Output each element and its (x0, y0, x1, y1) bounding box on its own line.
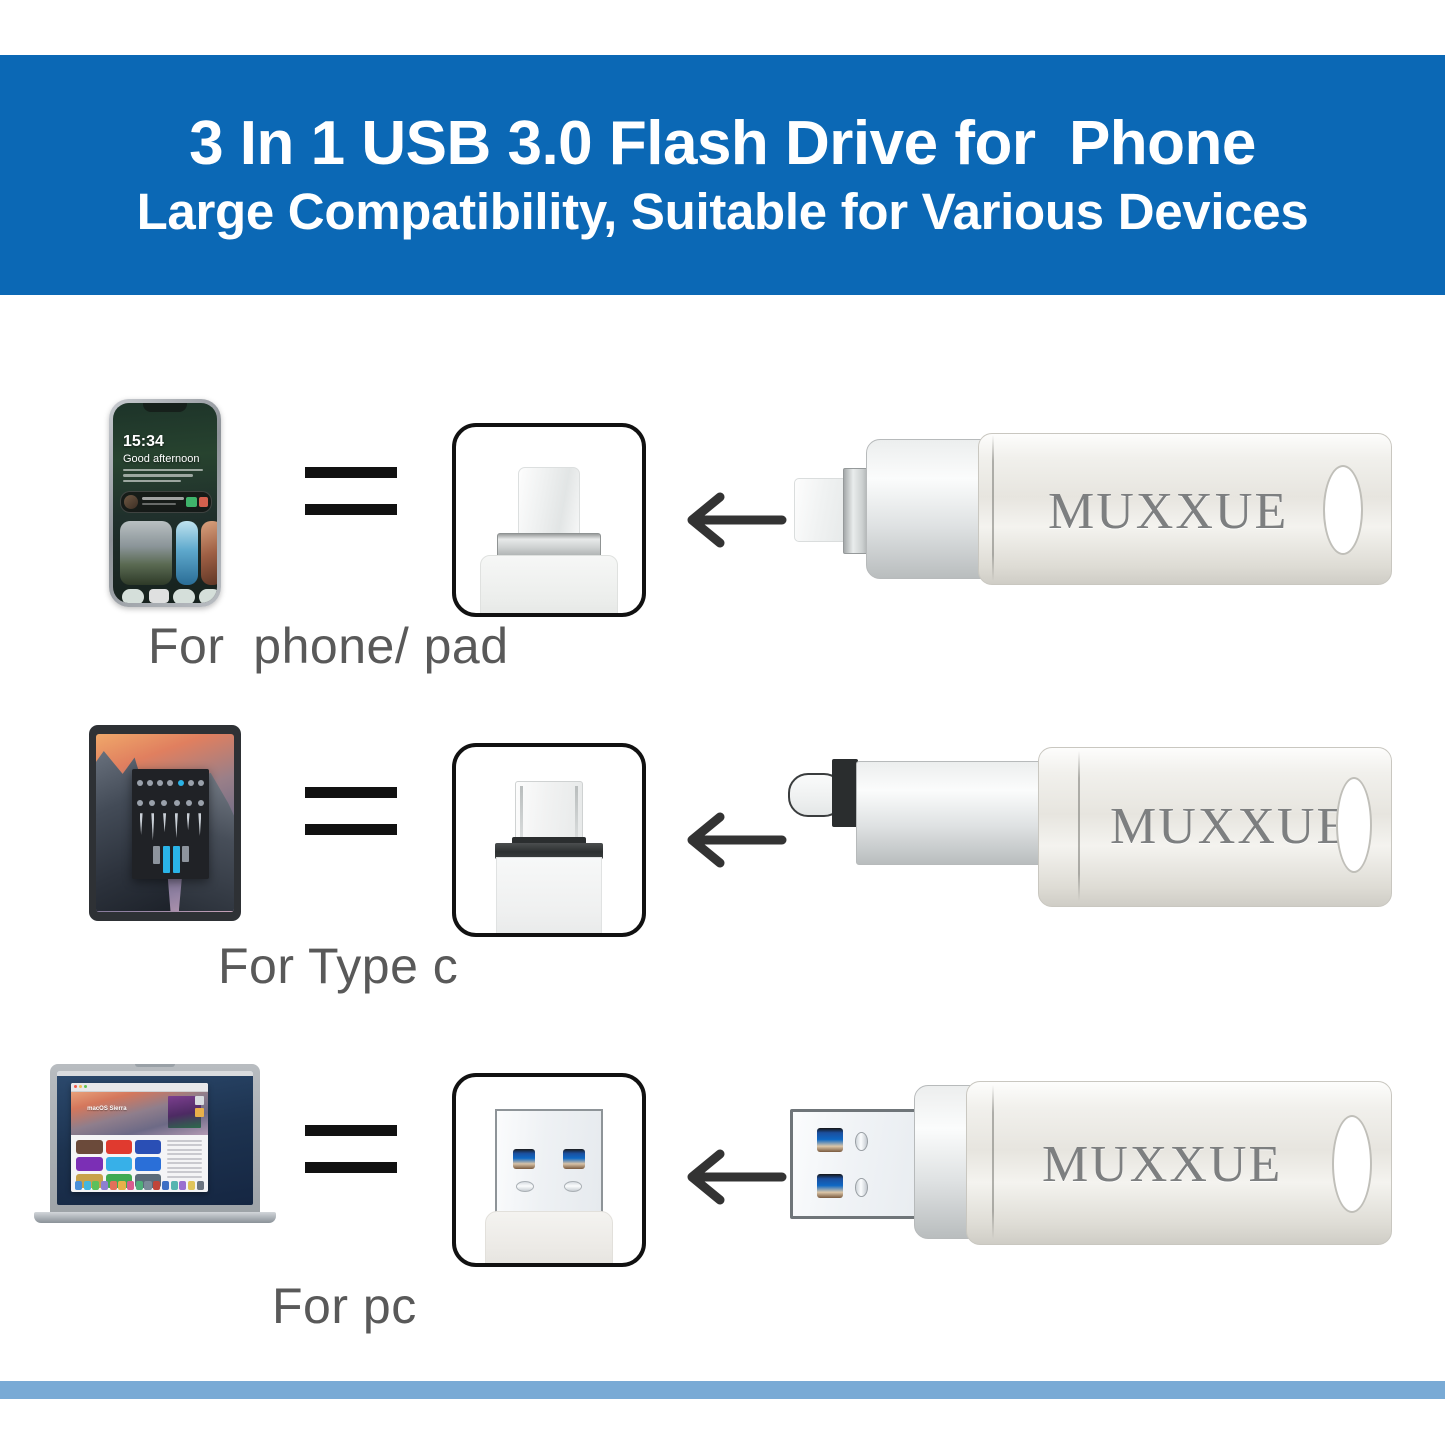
connector-box-usba (452, 1073, 646, 1267)
drive-usb-contact-bottom (817, 1174, 843, 1198)
phone-card-avatar (124, 495, 138, 509)
caption-row-typec: For Type c (218, 937, 458, 995)
drive-usba-plug (790, 1109, 924, 1219)
usb-contact-left (513, 1149, 535, 1169)
compat-row-pc: macOS Sierra (0, 1045, 1445, 1345)
usb-detent-right (564, 1181, 582, 1192)
device-thumb-iphone: 15:34 Good afternoon (40, 395, 290, 610)
laptop-os-label: macOS Sierra (87, 1106, 126, 1112)
arrow-left-icon-row3 (678, 1147, 788, 1207)
phone-dock-button-right (173, 589, 195, 603)
iphone-screen: 15:34 Good afternoon (113, 403, 217, 603)
connector-box-typec (452, 743, 646, 937)
phone-card-badge-icon (199, 497, 208, 507)
caption-row-phone: For phone/ pad (148, 617, 509, 675)
flash-drive-typec-icon: MUXXUE (780, 725, 1410, 930)
laptop-screen: macOS Sierra (57, 1071, 253, 1205)
phone-dock-button-left (122, 589, 144, 603)
bottom-accent-bar (0, 1381, 1445, 1399)
equals-sign-row1 (305, 467, 397, 515)
drive-seam-line (992, 435, 994, 581)
tablet-brush-row (140, 813, 202, 844)
tablet-screen (96, 734, 234, 912)
drive-brand-engraving: MUXXUE (1110, 797, 1350, 856)
drive-brand-engraving: MUXXUE (1042, 1135, 1282, 1194)
laptop-base (34, 1212, 276, 1223)
header-banner: 3 In 1 USB 3.0 Flash Drive for Phone Lar… (0, 55, 1445, 295)
laptop-lid: macOS Sierra (50, 1064, 260, 1214)
equals-bar-top (305, 787, 397, 798)
drive-seam-line (1078, 751, 1080, 901)
laptop-desktop-icons (195, 1096, 204, 1118)
caption-row-pc: For pc (272, 1277, 417, 1335)
equals-bar-bottom (305, 1162, 397, 1173)
equals-bar-bottom (305, 824, 397, 835)
typec-housing (496, 857, 602, 937)
tablet-tool-row-top (137, 780, 205, 786)
banner-title: 3 In 1 USB 3.0 Flash Drive for Phone (189, 111, 1256, 177)
laptop-menubar (57, 1071, 253, 1076)
phone-dock-button-far (199, 589, 217, 603)
device-thumb-tablet (40, 715, 290, 930)
equals-bar-bottom (305, 504, 397, 515)
phone-dock-button-mid (149, 589, 169, 603)
drive-usb-detent-top (855, 1132, 868, 1151)
phone-widget-portrait (201, 521, 217, 585)
phone-card-title-line (142, 497, 184, 500)
connector-box-lightning (452, 423, 646, 617)
usba-housing (485, 1211, 613, 1267)
drive-brand-engraving: MUXXUE (1048, 482, 1288, 541)
laptop-icon: macOS Sierra (34, 1064, 276, 1242)
tablet-app-panel (132, 769, 209, 879)
phone-greeting: Good afternoon (123, 453, 199, 465)
phone-time: 15:34 (123, 433, 164, 451)
drive-usb-contact-top (817, 1128, 843, 1152)
phone-text-lines (123, 469, 203, 486)
usb-detent-left (516, 1181, 534, 1192)
flash-drive-lightning-icon: MUXXUE (780, 405, 1410, 610)
drive-keyring-hole (1332, 1115, 1372, 1213)
laptop-hero-banner: macOS Sierra (71, 1092, 208, 1136)
laptop-window-titlebar (71, 1083, 208, 1092)
usb-contact-right (563, 1149, 585, 1169)
drive-swivel-arm (856, 761, 1044, 865)
phone-widget-water (176, 521, 198, 585)
phone-notification-card (120, 491, 212, 513)
usb-a-connector-icon (495, 1109, 603, 1217)
tablet-slider-row (152, 846, 191, 875)
iphone-icon: 15:34 Good afternoon (109, 399, 221, 607)
phone-widget-photo (120, 521, 172, 585)
laptop-dock (75, 1180, 204, 1190)
drive-keyring-hole (1336, 777, 1372, 873)
laptop-camera-notch-icon (135, 1064, 175, 1067)
phone-notch-icon (143, 403, 187, 412)
drive-keyring-hole (1323, 465, 1363, 555)
drive-seam-line (992, 1085, 994, 1239)
phone-card-sub-line (142, 503, 176, 506)
equals-bar-top (305, 467, 397, 478)
equals-sign-row2 (305, 787, 397, 835)
tablet-tool-row-second (137, 800, 205, 806)
drive-typec-neck (832, 759, 858, 827)
drive-usb-detent-bottom (855, 1178, 868, 1197)
drive-lightning-plug (794, 478, 848, 542)
flash-drive-usba-icon: MUXXUE (780, 1063, 1410, 1268)
equals-sign-row3 (305, 1125, 397, 1173)
banner-subtitle: Large Compatibility, Suitable for Variou… (137, 184, 1309, 239)
arrow-left-icon-row1 (678, 490, 788, 550)
phone-card-play-icon (186, 497, 197, 507)
laptop-appstore-window: macOS Sierra (71, 1083, 208, 1193)
compat-row-typec: MUXXUE For Type c (0, 715, 1445, 1005)
arrow-left-icon-row2 (678, 810, 788, 870)
lightning-housing (480, 555, 618, 617)
compat-row-phone: 15:34 Good afternoon (0, 395, 1445, 685)
tablet-icon (89, 725, 241, 921)
device-thumb-laptop: macOS Sierra (20, 1045, 290, 1260)
lightning-connector-icon (518, 467, 580, 541)
equals-bar-top (305, 1125, 397, 1136)
